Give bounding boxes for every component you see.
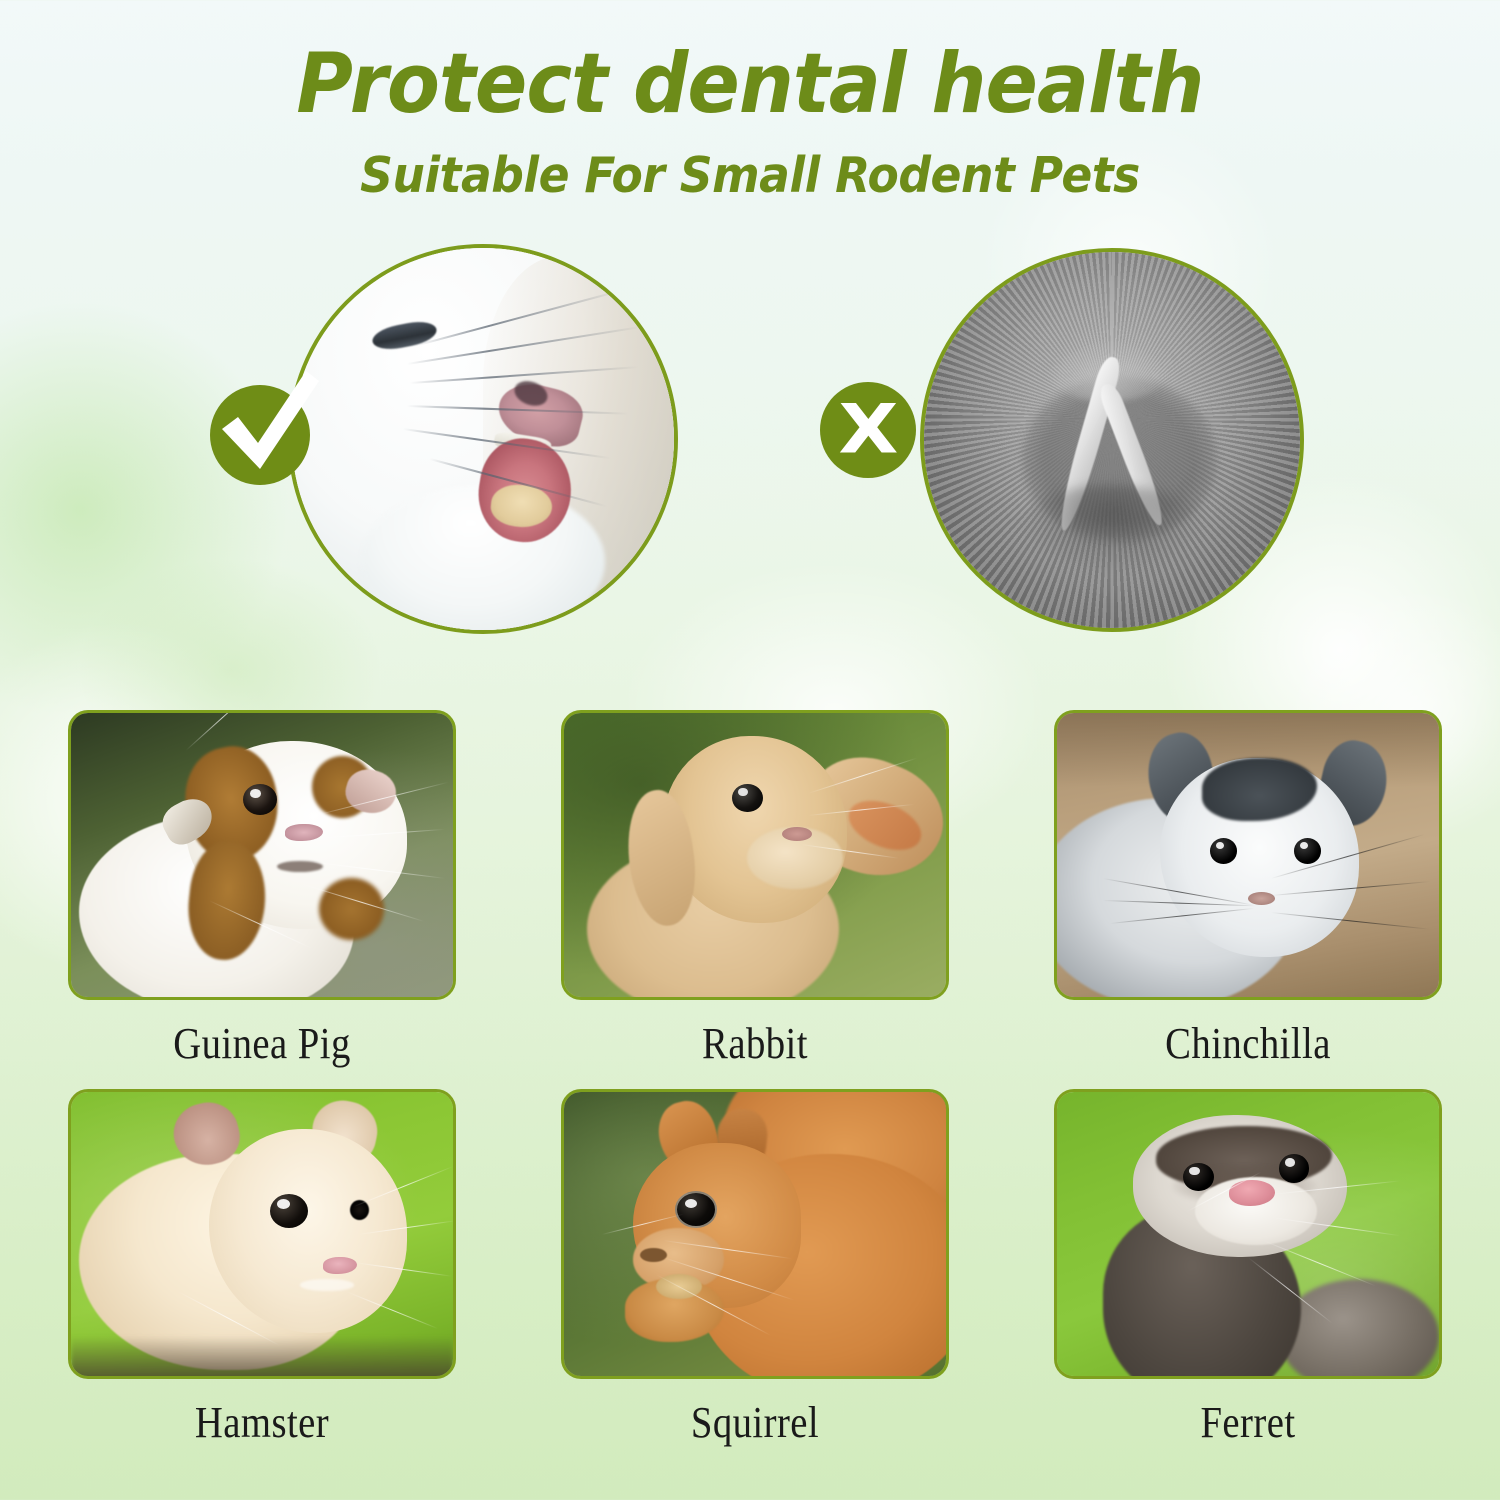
- overgrown-teeth-panel: [920, 248, 1304, 632]
- x-badge: X: [820, 382, 916, 478]
- overgrown-teeth-illustration: [924, 252, 1300, 628]
- rabbit-mouth-illustration: [292, 248, 674, 630]
- pet-grid: Guinea Pig Rabbit: [68, 710, 1440, 1448]
- pet-photo-chinchilla[interactable]: [1054, 710, 1442, 1000]
- pet-label-squirrel: Squirrel: [584, 1397, 925, 1448]
- check-icon: [218, 377, 322, 481]
- pet-cell-rabbit: Rabbit: [561, 710, 949, 1069]
- healthy-teeth-photo: [288, 244, 678, 634]
- healthy-teeth-panel: [288, 244, 678, 634]
- pet-cell-ferret: Ferret: [1054, 1089, 1442, 1448]
- pet-label-hamster: Hamster: [91, 1397, 432, 1448]
- pet-photo-ferret[interactable]: [1054, 1089, 1442, 1379]
- pet-cell-squirrel: Squirrel: [561, 1089, 949, 1448]
- pet-photo-rabbit[interactable]: [561, 710, 949, 1000]
- check-badge: [210, 385, 310, 485]
- pet-photo-squirrel[interactable]: [561, 1089, 949, 1379]
- x-icon: X: [838, 396, 898, 463]
- pet-photo-hamster[interactable]: [68, 1089, 456, 1379]
- pet-cell-chinchilla: Chinchilla: [1054, 710, 1442, 1069]
- pet-label-guinea-pig: Guinea Pig: [91, 1018, 432, 1069]
- pet-label-rabbit: Rabbit: [584, 1018, 925, 1069]
- pet-photo-guinea-pig[interactable]: [68, 710, 456, 1000]
- pet-cell-hamster: Hamster: [68, 1089, 456, 1448]
- comparison-section: X: [0, 0, 1500, 700]
- overgrown-teeth-photo: [920, 248, 1304, 632]
- pet-label-chinchilla: Chinchilla: [1077, 1018, 1418, 1069]
- pet-cell-guinea-pig: Guinea Pig: [68, 710, 456, 1069]
- pet-label-ferret: Ferret: [1077, 1397, 1418, 1448]
